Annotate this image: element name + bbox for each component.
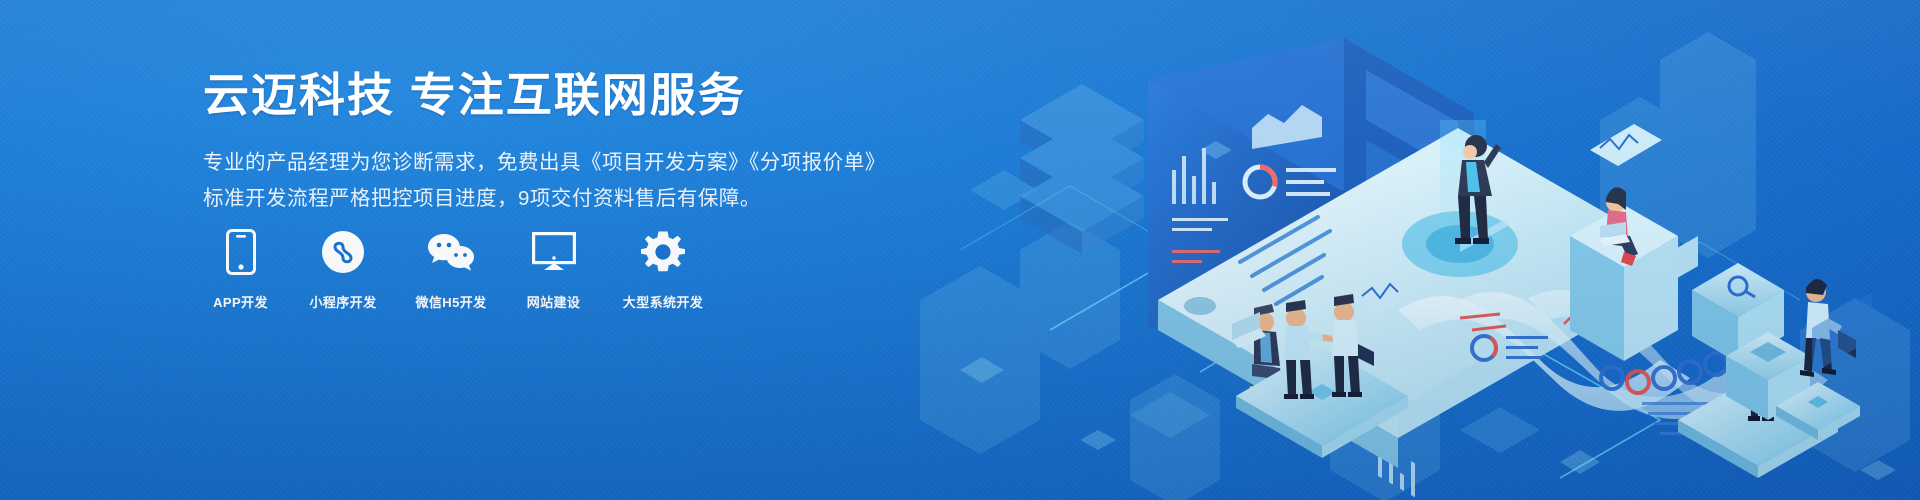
- service-label: 大型系统开发: [623, 292, 703, 311]
- banner-subcopy: 专业的产品经理为您诊断需求，免费出具《项目开发方案》《分项报价单》 标准开发流程…: [203, 145, 1103, 217]
- desktop-monitor-icon: [530, 228, 578, 276]
- service-list: APP开发 小程序开发 微信: [203, 228, 713, 311]
- service-label: 小程序开发: [309, 292, 376, 311]
- service-label: APP开发: [213, 292, 268, 311]
- service-label: 微信H5开发: [415, 292, 486, 311]
- promo-banner: 云迈科技 专注互联网服务 专业的产品经理为您诊断需求，免费出具《项目开发方案》《…: [0, 0, 1920, 500]
- service-item-large-system[interactable]: 大型系统开发: [613, 228, 713, 311]
- mini-program-icon: [319, 228, 367, 276]
- service-label: 网站建设: [527, 292, 581, 311]
- service-item-website[interactable]: 网站建设: [516, 228, 591, 311]
- page-title: 云迈科技 专注互联网服务: [203, 68, 1103, 123]
- wechat-icon: [427, 228, 475, 276]
- service-item-wechat-h5[interactable]: 微信H5开发: [408, 228, 494, 311]
- banner-text-block: 云迈科技 专注互联网服务 专业的产品经理为您诊断需求，免费出具《项目开发方案》《…: [203, 68, 1103, 217]
- service-item-mini-program[interactable]: 小程序开发: [300, 228, 386, 311]
- service-item-app[interactable]: APP开发: [203, 228, 278, 311]
- subcopy-line-2: 标准开发流程严格把控项目进度，9项交付资料售后有保障。: [203, 181, 1103, 217]
- subcopy-line-1: 专业的产品经理为您诊断需求，免费出具《项目开发方案》《分项报价单》: [203, 145, 1103, 181]
- gear-icon: [639, 228, 687, 276]
- mobile-phone-icon: [217, 228, 265, 276]
